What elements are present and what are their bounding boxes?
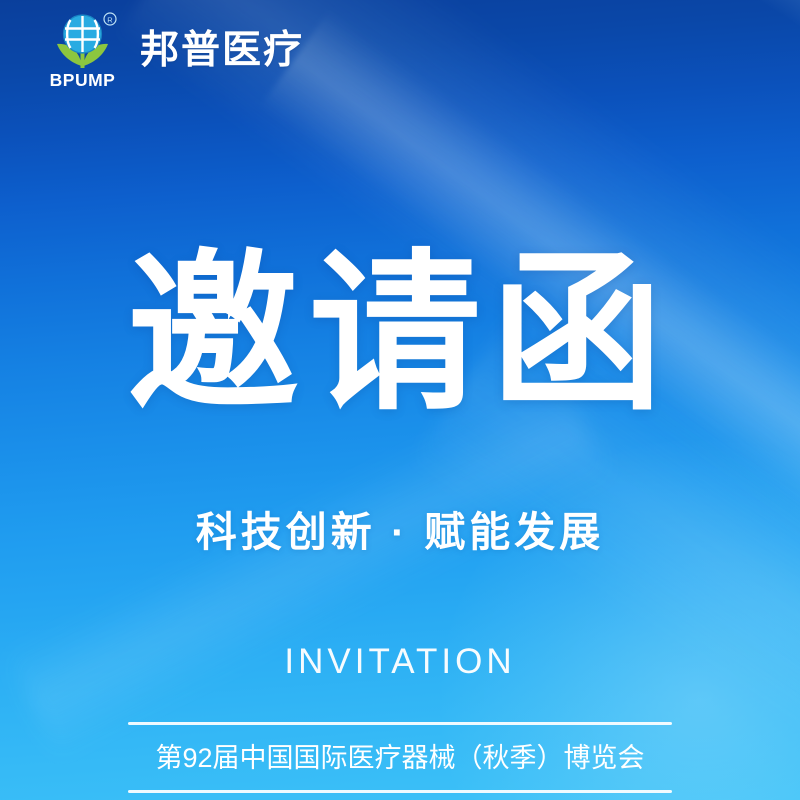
svg-text:R: R <box>107 15 113 24</box>
brand-header: R BPUMP 邦普医疗 <box>0 0 800 100</box>
page-title: 邀请函 <box>127 248 673 420</box>
footer-event-block: 第92届中国国际医疗器械（秋季）博览会 <box>128 722 672 793</box>
invitation-poster: R BPUMP 邦普医疗 邀请函 科技创新 · 赋能发展 INVITATION … <box>0 0 800 800</box>
bpump-wordmark: BPUMP <box>50 70 116 90</box>
footer-rule-bottom <box>128 790 672 793</box>
subtitle-block: 科技创新 · 赋能发展 <box>0 508 800 557</box>
subtitle: 科技创新 · 赋能发展 <box>196 508 604 557</box>
footer-event-name: 第92届中国国际医疗器械（秋季）博览会 <box>128 725 672 790</box>
invitation-english-block: INVITATION <box>0 644 800 679</box>
main-title-block: 邀请函 <box>0 248 800 420</box>
invitation-english-label: INVITATION <box>284 644 515 679</box>
brand-name: 邦普医疗 <box>140 31 304 70</box>
bpump-logo-icon: R BPUMP <box>44 10 122 90</box>
